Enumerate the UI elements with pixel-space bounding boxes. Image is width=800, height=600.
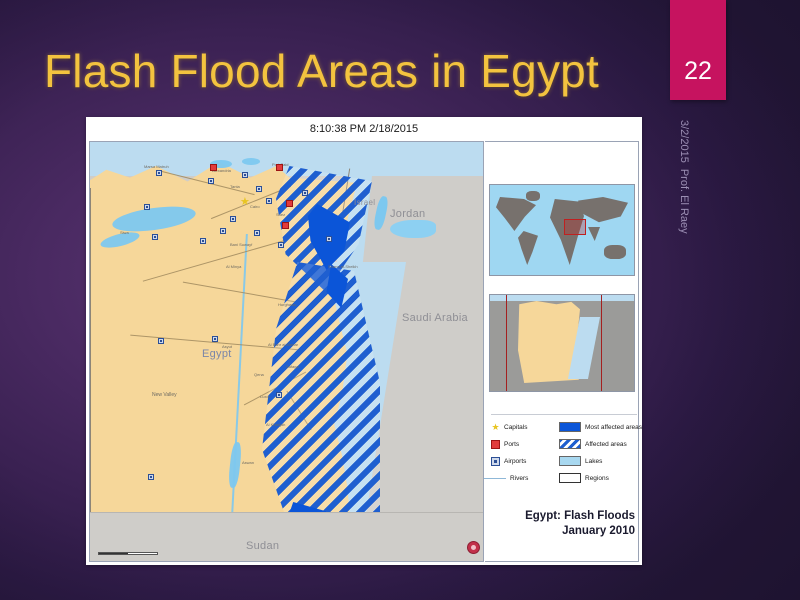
- map-label-sudan: Sudan: [246, 540, 279, 552]
- airport-marker: [302, 190, 308, 196]
- legend-item-ports: Ports: [491, 438, 553, 450]
- map-place-label: Al Kharijah: [266, 422, 285, 427]
- footer-date: 3/2/2015: [677, 120, 690, 163]
- legend-item-capitals: ★ Capitals: [491, 421, 553, 433]
- airport-marker: [208, 178, 214, 184]
- map-place-label: Al Minya: [226, 264, 241, 269]
- map-scale-bar: [98, 552, 158, 555]
- slide-canvas: Flash Flood Areas in Egypt 22 Prof. El R…: [0, 0, 800, 600]
- continent-south-america: [518, 231, 538, 265]
- port-marker: [210, 164, 217, 171]
- port-square-icon: [491, 440, 500, 449]
- airport-marker: [144, 204, 150, 210]
- map-place-label: Tanta: [230, 184, 240, 189]
- airport-marker: [158, 338, 164, 344]
- map-label-jordan: Jordan: [390, 208, 425, 220]
- map-place-label: Asyut: [222, 344, 232, 349]
- map-label-egypt: Egypt: [202, 348, 232, 360]
- lakes-swatch: [559, 456, 581, 466]
- map-legend: ★ Capitals Ports Airports: [491, 414, 637, 484]
- airport-square-icon: [491, 457, 500, 466]
- jordan-water-body: [390, 220, 436, 238]
- legend-label: Capitals: [504, 424, 527, 431]
- map-label-saudi-arabia: Saudi Arabia: [402, 312, 468, 324]
- map-place-label: Aswan: [242, 460, 254, 465]
- map-place-label: Suez: [276, 212, 285, 217]
- legend-label: Ports: [504, 441, 519, 448]
- capital-star-icon: ★: [491, 423, 500, 432]
- map-side-column: ★ Capitals Ports Airports: [485, 141, 639, 562]
- legend-item-regions: Regions: [559, 472, 637, 484]
- airport-marker: [276, 392, 282, 398]
- map-place-label: Qena: [254, 372, 264, 377]
- map-place-label: Safaga: [286, 364, 299, 369]
- port-marker: [276, 164, 283, 171]
- airport-marker: [326, 236, 332, 242]
- map-label-israel: Israel: [354, 198, 375, 207]
- map-place-label: Al Bahr al Ahmar: [268, 342, 298, 347]
- airport-marker: [242, 172, 248, 178]
- world-extent-highlight: [564, 219, 586, 235]
- continent-india: [588, 227, 600, 241]
- map-place-label: Luxor: [260, 394, 270, 399]
- legend-item-rivers: Rivers: [491, 472, 553, 484]
- legend-item-most-affected: Most affected areas: [559, 421, 637, 433]
- legend-label: Affected areas: [585, 441, 627, 448]
- regions-swatch: [559, 473, 581, 483]
- main-map-canvas: Egypt Israel Jordan Saudi Arabia Sudan A…: [89, 141, 484, 562]
- page-title: Flash Flood Areas in Egypt: [44, 40, 664, 102]
- map-place-label: Cairo: [250, 204, 260, 209]
- airport-marker: [200, 238, 206, 244]
- slide-footer: Prof. El Raey 3/2/2015: [677, 120, 690, 234]
- legend-label: Rivers: [510, 475, 528, 482]
- airport-marker: [254, 230, 260, 236]
- map-place-label: New Valley: [152, 392, 177, 398]
- legend-item-lakes: Lakes: [559, 455, 637, 467]
- affected-hatch-swatch: [559, 439, 581, 449]
- most-affected-swatch: [559, 422, 581, 432]
- map-timestamp: 8:10:38 PM 2/18/2015: [86, 120, 642, 138]
- continent-greenland: [526, 191, 540, 201]
- airport-marker: [212, 336, 218, 342]
- legend-item-airports: Airports: [491, 455, 553, 467]
- map-source-logo-icon: [467, 541, 480, 554]
- continent-north-america: [496, 197, 536, 231]
- legend-label: Airports: [504, 458, 526, 465]
- map-place-label: Sharm el-Sheikh: [328, 264, 358, 269]
- map-place-label: Hurghada: [278, 302, 296, 307]
- map-body: Egypt Israel Jordan Saudi Arabia Sudan A…: [89, 141, 639, 562]
- airport-marker: [156, 170, 162, 176]
- map-image-panel: 8:10:38 PM 2/18/2015: [86, 117, 642, 565]
- legend-areas-column: Most affected areas Affected areas Lakes: [559, 421, 637, 484]
- legend-label: Most affected areas: [585, 424, 642, 431]
- inset-world-locator: [489, 184, 635, 276]
- airport-marker: [278, 242, 284, 248]
- map-title-line-2: January 2010: [491, 524, 635, 539]
- inset-egypt-locator: [489, 294, 635, 392]
- footer-author: Prof. El Raey: [677, 169, 690, 234]
- map-title-block: Egypt: Flash Floods January 2010: [491, 509, 635, 539]
- airport-marker: [220, 228, 226, 234]
- legend-symbols-column: ★ Capitals Ports Airports: [491, 421, 553, 484]
- lake-delta-2: [242, 158, 260, 165]
- legend-label: Lakes: [585, 458, 602, 465]
- port-marker: [282, 222, 289, 229]
- airport-marker: [230, 216, 236, 222]
- airport-marker: [148, 474, 154, 480]
- river-line-icon: [484, 478, 506, 479]
- map-place-label: Marsa Matruh: [144, 164, 169, 169]
- border-egypt-libya: [90, 188, 91, 518]
- inset-extent-rectangle: [506, 295, 602, 391]
- map-place-label: Siwa: [120, 230, 129, 235]
- legend-item-affected: Affected areas: [559, 438, 637, 450]
- airport-marker: [152, 234, 158, 240]
- legend-label: Regions: [585, 475, 609, 482]
- port-marker: [286, 200, 293, 207]
- page-number-text: 22: [670, 59, 726, 84]
- airport-marker: [256, 186, 262, 192]
- map-place-label: Bani Suwayf: [230, 242, 252, 247]
- map-title-line-1: Egypt: Flash Floods: [491, 509, 635, 524]
- airport-marker: [266, 198, 272, 204]
- page-number-badge: 22: [670, 0, 726, 100]
- continent-australia: [604, 245, 626, 259]
